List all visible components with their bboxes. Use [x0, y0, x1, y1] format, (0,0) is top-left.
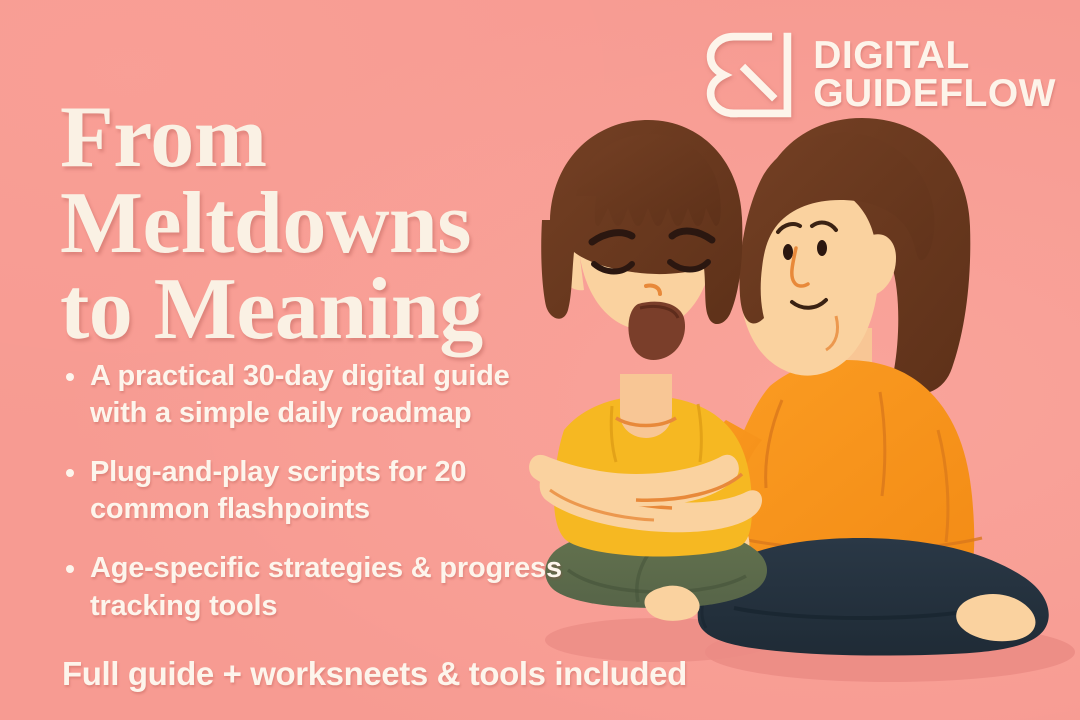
- list-item: Plug-and-play scripts for 20 common flas…: [62, 454, 562, 528]
- mother-ear: [870, 234, 896, 296]
- promo-graphic-canvas: DIGITAL GUIDEFLOW From Meltdowns to Mean…: [0, 0, 1080, 720]
- child-mouth: [628, 302, 685, 360]
- headline-line-3: to Meaning: [60, 267, 620, 353]
- brand-name-line-1: DIGITAL: [813, 37, 1056, 75]
- brand-name-line-2: GUIDEFLOW: [813, 75, 1056, 113]
- list-item-label: A practical 30-day digital guide with a …: [90, 360, 510, 429]
- feature-bullet-list: A practical 30-day digital guide with a …: [62, 358, 562, 625]
- arrow-bracket-logo-mark: [701, 26, 797, 124]
- list-item: A practical 30-day digital guide with a …: [62, 358, 562, 432]
- bullet-dot-icon: [66, 373, 74, 381]
- bullet-dot-icon: [66, 469, 74, 477]
- list-item-label: Plug-and-play scripts for 20 common flas…: [90, 456, 466, 525]
- mother-sweater: [715, 360, 975, 568]
- mother-eye-right: [817, 240, 827, 256]
- list-item-label: Age-specific strategies & progress track…: [90, 552, 562, 621]
- brand-logo[interactable]: DIGITAL GUIDEFLOW: [701, 26, 1056, 124]
- headline-line-1: From: [60, 95, 620, 181]
- list-item: Age-specific strategies & progress track…: [62, 550, 562, 624]
- page-title: From Meltdowns to Meaning: [60, 95, 620, 354]
- child-neck: [620, 374, 672, 438]
- footer-tagline: Full guide + worksneets & tools included: [62, 655, 687, 693]
- brand-wordmark: DIGITAL GUIDEFLOW: [813, 37, 1056, 113]
- headline-line-2: Meltdowns: [60, 181, 620, 267]
- bullet-dot-icon: [66, 565, 74, 573]
- mother-eye-left: [783, 244, 793, 260]
